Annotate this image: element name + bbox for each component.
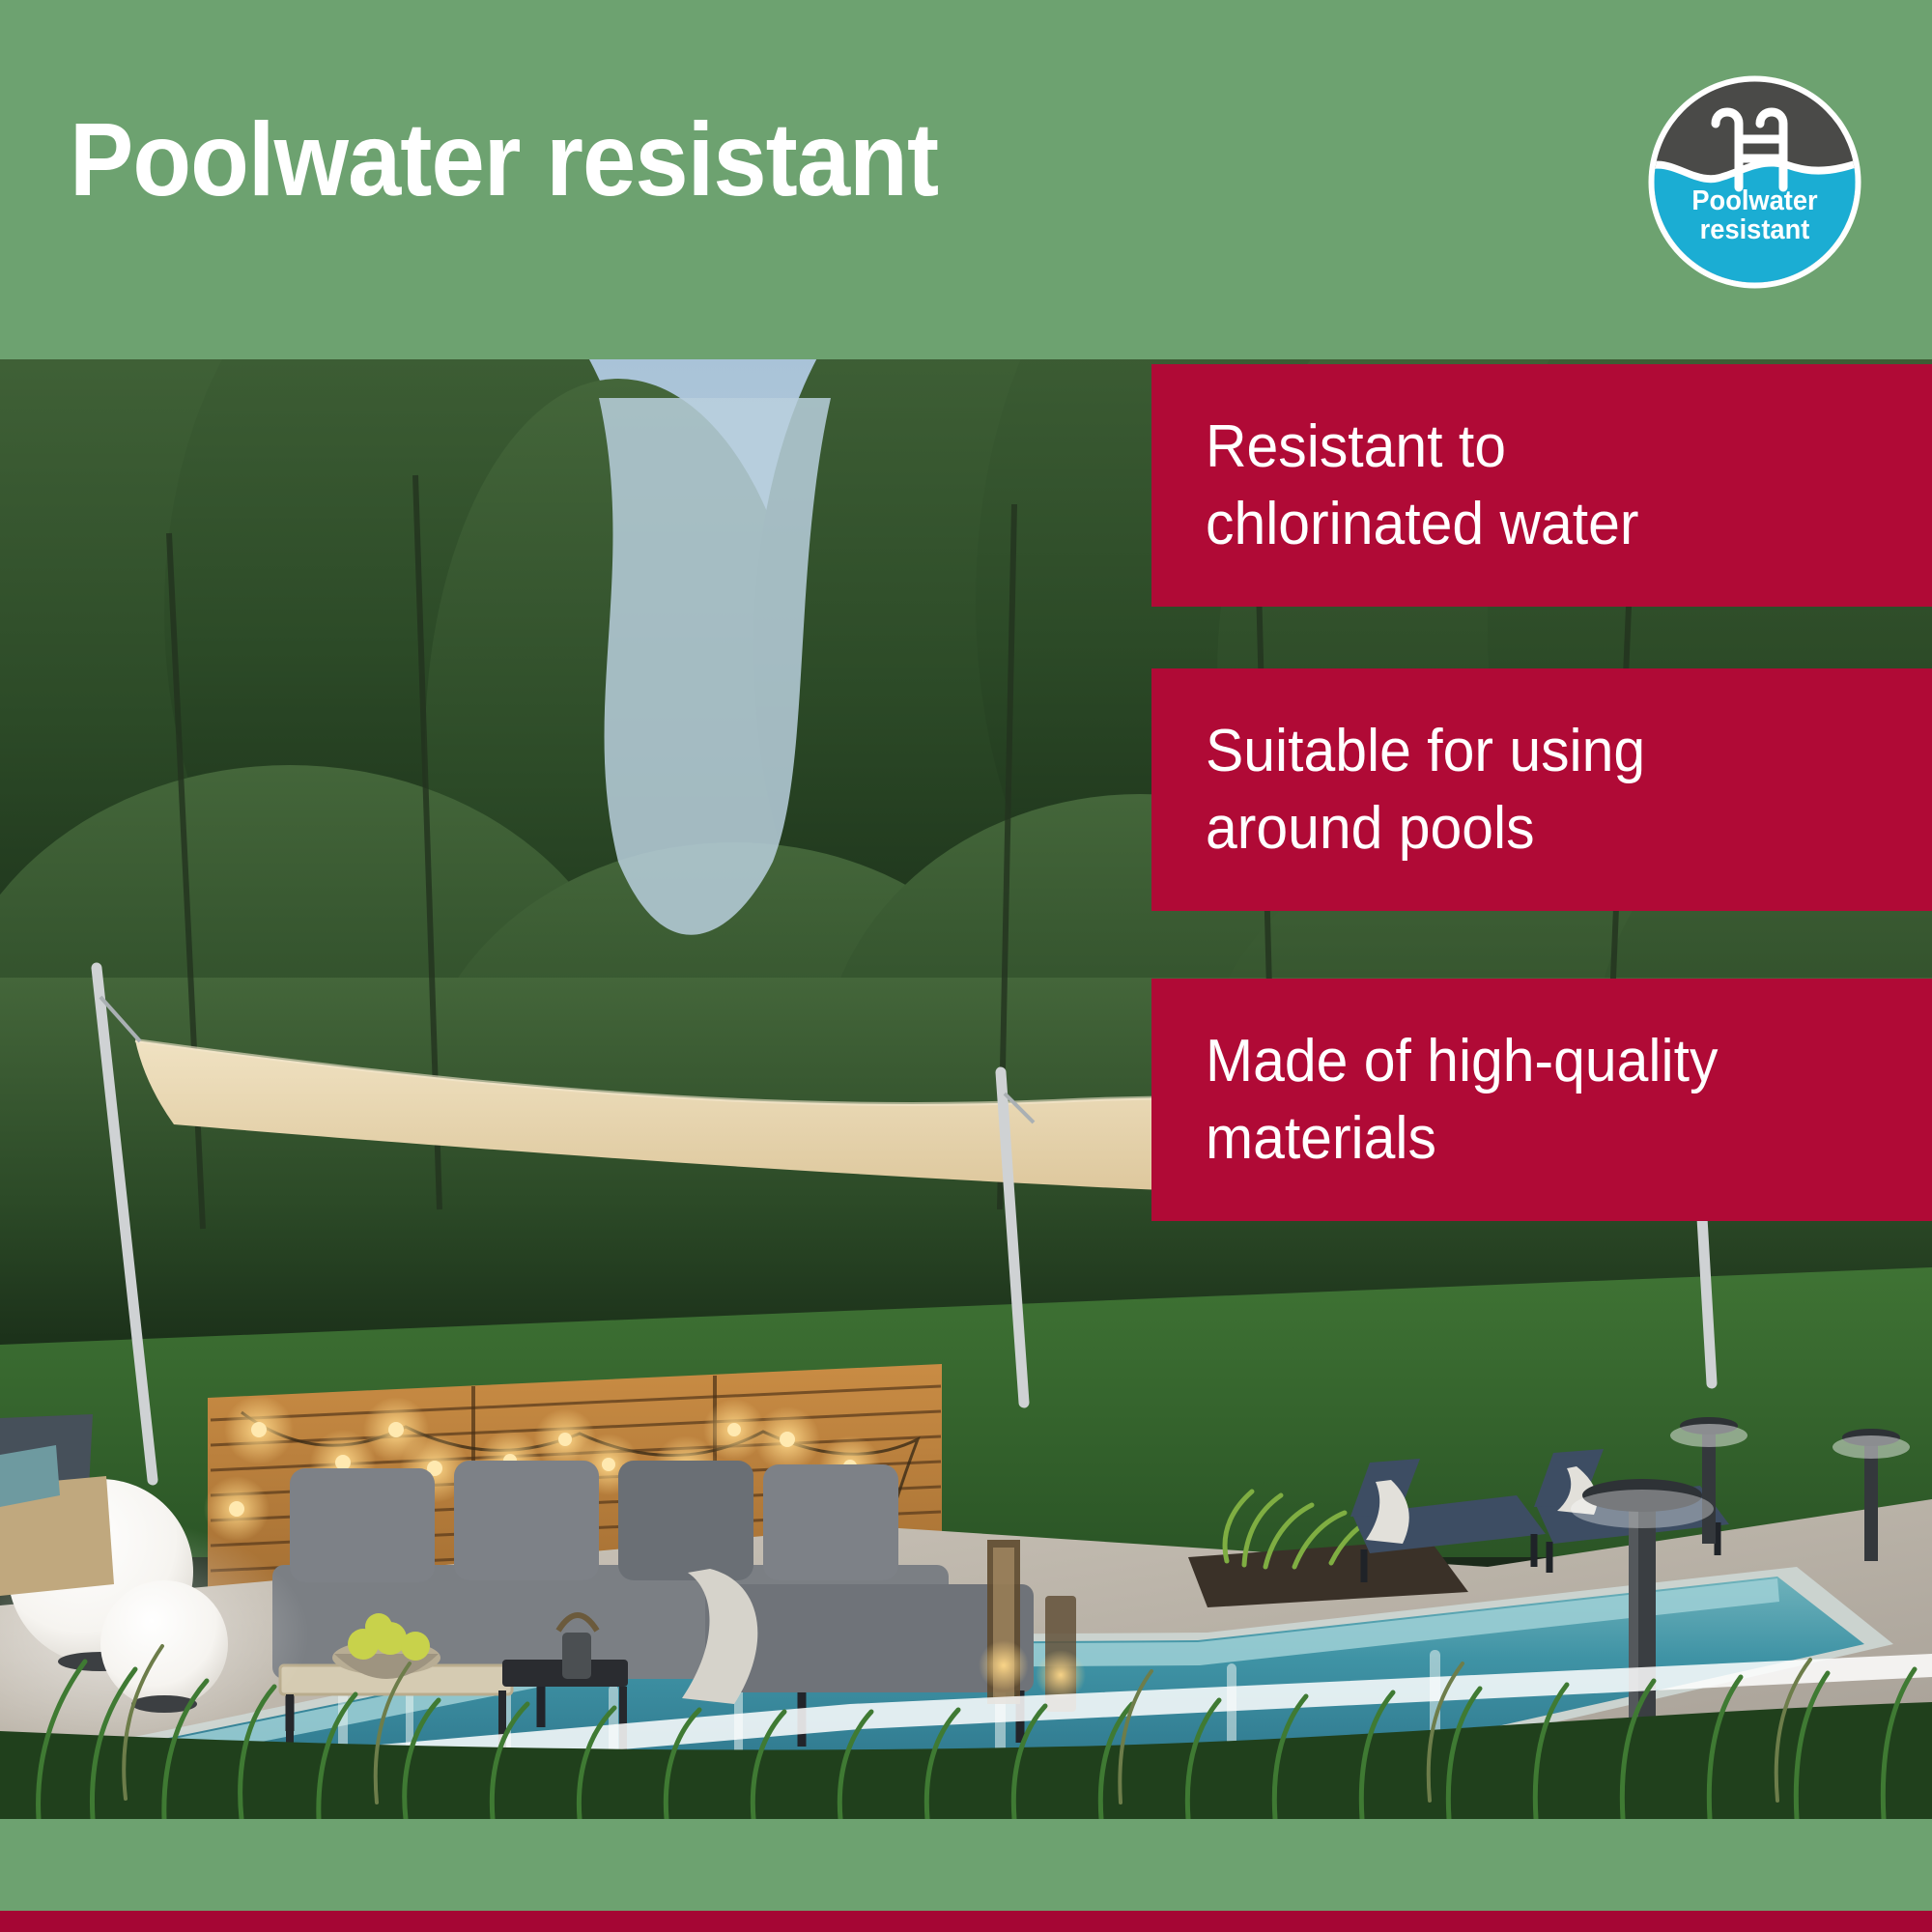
feature-box-3: Made of high-quality materials [1151, 979, 1932, 1221]
footer-red-band [0, 1911, 1932, 1932]
poster-root: Poolwater resistant [0, 0, 1932, 1932]
badge-graphic [1646, 73, 1863, 291]
feature-box-2: Suitable for using around pools [1151, 668, 1932, 911]
page-title: Poolwater resistant [70, 104, 938, 213]
feature-text-2: Suitable for using around pools [1206, 713, 1645, 867]
footer-green-band [0, 1819, 1932, 1911]
poolwater-resistant-badge: Poolwater resistant [1646, 73, 1863, 291]
header-band: Poolwater resistant [0, 0, 1932, 359]
feature-text-1: Resistant to chlorinated water [1206, 409, 1639, 562]
feature-box-1: Resistant to chlorinated water [1151, 364, 1932, 607]
feature-text-3: Made of high-quality materials [1206, 1023, 1718, 1177]
